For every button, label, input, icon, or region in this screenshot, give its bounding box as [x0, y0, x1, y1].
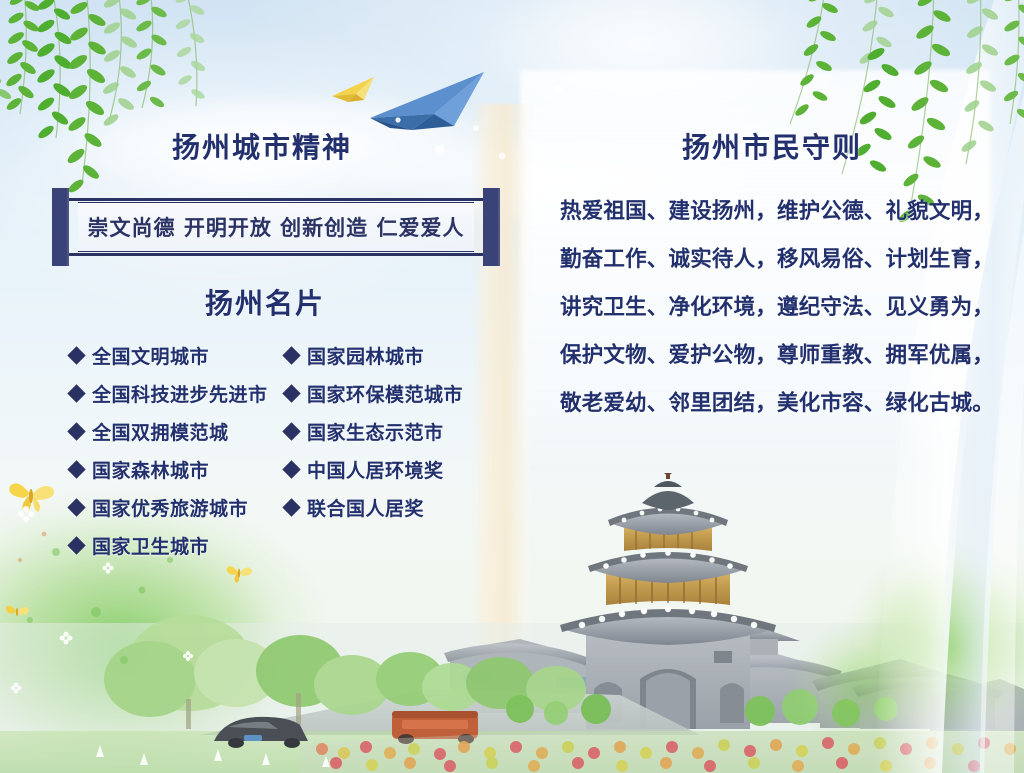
banner-panel: 崇文尚德 开明开放 创新创造 仁爱爱人	[78, 202, 474, 252]
section-title-city-cards: 扬州名片	[40, 282, 490, 322]
rule-line: 保护文物、爱护公物，尊师重教、拥军优属，	[560, 332, 980, 380]
rule-line: 讲究卫生、净化环境，遵纪守法、见义勇为，	[560, 284, 980, 332]
rule-line: 热爱祖国、建设扬州，维护公德、礼貌文明，	[560, 188, 980, 236]
banner-cap-left	[52, 188, 69, 266]
diamond-bullet-icon	[67, 498, 85, 516]
list-item: 全国科技进步先进市	[70, 374, 285, 412]
diamond-bullet-icon	[282, 346, 300, 364]
list-item: 国家园林城市	[285, 336, 490, 374]
section-title-city-spirit: 扬州城市精神	[34, 126, 490, 166]
list-item: 中国人居环境奖	[285, 450, 490, 488]
section-title-citizen-rules: 扬州市民守则	[564, 126, 980, 166]
city-cards-list: 全国文明城市 全国科技进步先进市 全国双拥模范城 国家森林城市 国家优秀旅游城市	[40, 336, 490, 564]
list-item-label: 联合国人居奖	[307, 494, 424, 521]
citizen-rules-text: 热爱祖国、建设扬州，维护公德、礼貌文明， 勤奋工作、诚实待人，移风易俗、计划生育…	[560, 188, 980, 428]
right-column: 扬州市民守则 热爱祖国、建设扬州，维护公德、礼貌文明， 勤奋工作、诚实待人，移风…	[560, 126, 980, 428]
city-spirit-banner: 崇文尚德 开明开放 创新创造 仁爱爱人	[52, 188, 500, 266]
diamond-bullet-icon	[67, 460, 85, 478]
diamond-bullet-icon	[67, 422, 85, 440]
list-item-label: 国家环保模范城市	[307, 380, 463, 407]
left-column: 扬州城市精神 崇文尚德 开明开放 创新创造 仁爱爱人 扬州名片 全国文明城市 全…	[40, 126, 490, 564]
diamond-bullet-icon	[67, 346, 85, 364]
banner-cap-right	[483, 188, 500, 266]
diamond-bullet-icon	[67, 384, 85, 402]
list-item-label: 国家森林城市	[92, 456, 209, 483]
list-item: 全国双拥模范城	[70, 412, 285, 450]
list-item: 全国文明城市	[70, 336, 285, 374]
list-item-label: 中国人居环境奖	[307, 456, 444, 483]
rule-line: 勤奋工作、诚实待人，移风易俗、计划生育，	[560, 236, 980, 284]
list-item-label: 全国文明城市	[92, 342, 209, 369]
list-item: 联合国人居奖	[285, 488, 490, 526]
list-item: 国家卫生城市	[70, 526, 285, 564]
list-item-label: 全国双拥模范城	[92, 418, 229, 445]
banner-rail-bottom	[52, 253, 500, 256]
poster-root: 扬州城市精神 崇文尚德 开明开放 创新创造 仁爱爱人 扬州名片 全国文明城市 全…	[0, 0, 1024, 773]
list-item-label: 国家生态示范市	[307, 418, 444, 445]
banner-rail-top	[52, 198, 500, 201]
diamond-bullet-icon	[282, 422, 300, 440]
list-item-label: 国家卫生城市	[92, 532, 209, 559]
list-item: 国家森林城市	[70, 450, 285, 488]
list-item: 国家环保模范城市	[285, 374, 490, 412]
diamond-bullet-icon	[282, 498, 300, 516]
banner-text: 崇文尚德 开明开放 创新创造 仁爱爱人	[88, 212, 465, 242]
list-item-label: 国家优秀旅游城市	[92, 494, 248, 521]
diamond-bullet-icon	[282, 460, 300, 478]
list-item-label: 国家园林城市	[307, 342, 424, 369]
city-cards-column-1: 全国文明城市 全国科技进步先进市 全国双拥模范城 国家森林城市 国家优秀旅游城市	[40, 336, 285, 564]
city-cards-column-2: 国家园林城市 国家环保模范城市 国家生态示范市 中国人居环境奖 联合国人居奖	[285, 336, 490, 564]
rule-line: 敬老爱幼、邻里团结，美化市容、绿化古城。	[560, 380, 980, 428]
list-item: 国家优秀旅游城市	[70, 488, 285, 526]
diamond-bullet-icon	[282, 384, 300, 402]
list-item: 国家生态示范市	[285, 412, 490, 450]
list-item-label: 全国科技进步先进市	[92, 380, 268, 407]
diamond-bullet-icon	[67, 536, 85, 554]
